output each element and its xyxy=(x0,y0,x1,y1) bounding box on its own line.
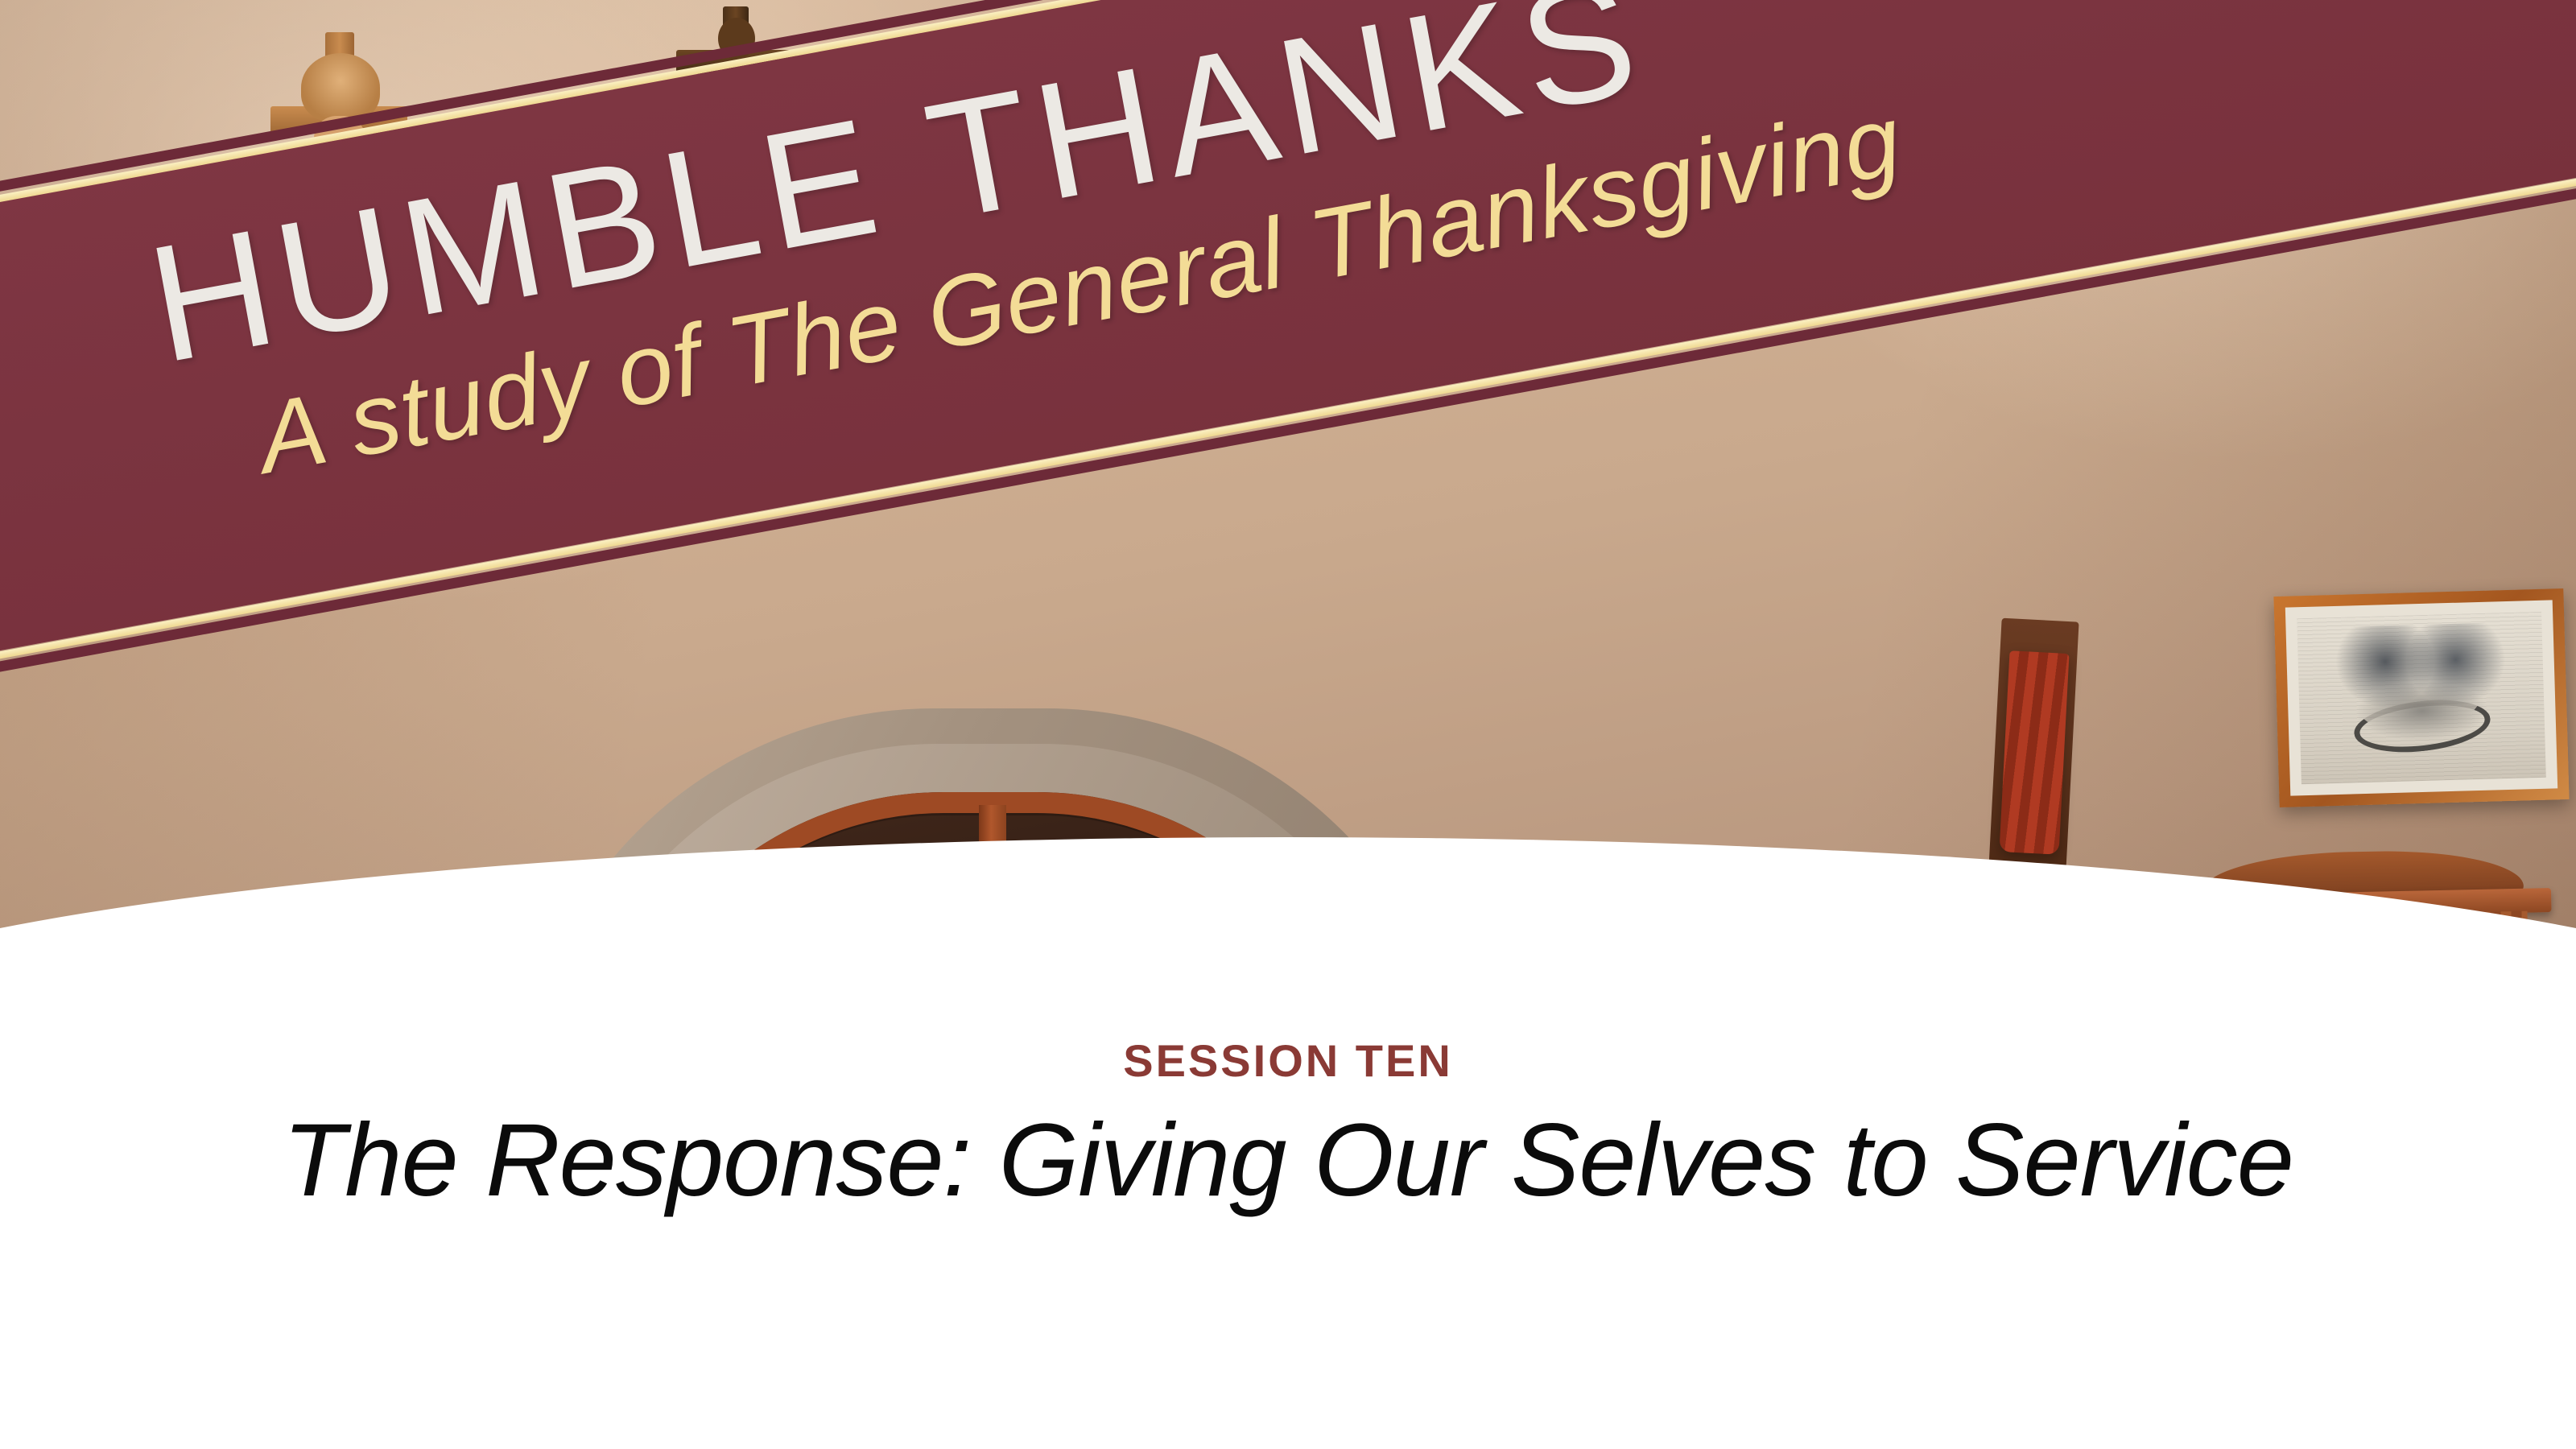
session-text-block: SESSION TEN The Response: Giving Our Sel… xyxy=(0,1038,2576,1218)
diagonal-banner: HUMBLE THANKS A study of The General Tha… xyxy=(0,0,2576,693)
session-label: SESSION TEN xyxy=(0,1038,2576,1084)
banner-layer: HUMBLE THANKS A study of The General Tha… xyxy=(0,0,2576,1014)
slide-root: HUMBLE THANKS A study of The General Tha… xyxy=(0,0,2576,1449)
session-title: The Response: Giving Our Selves to Servi… xyxy=(0,1103,2576,1218)
